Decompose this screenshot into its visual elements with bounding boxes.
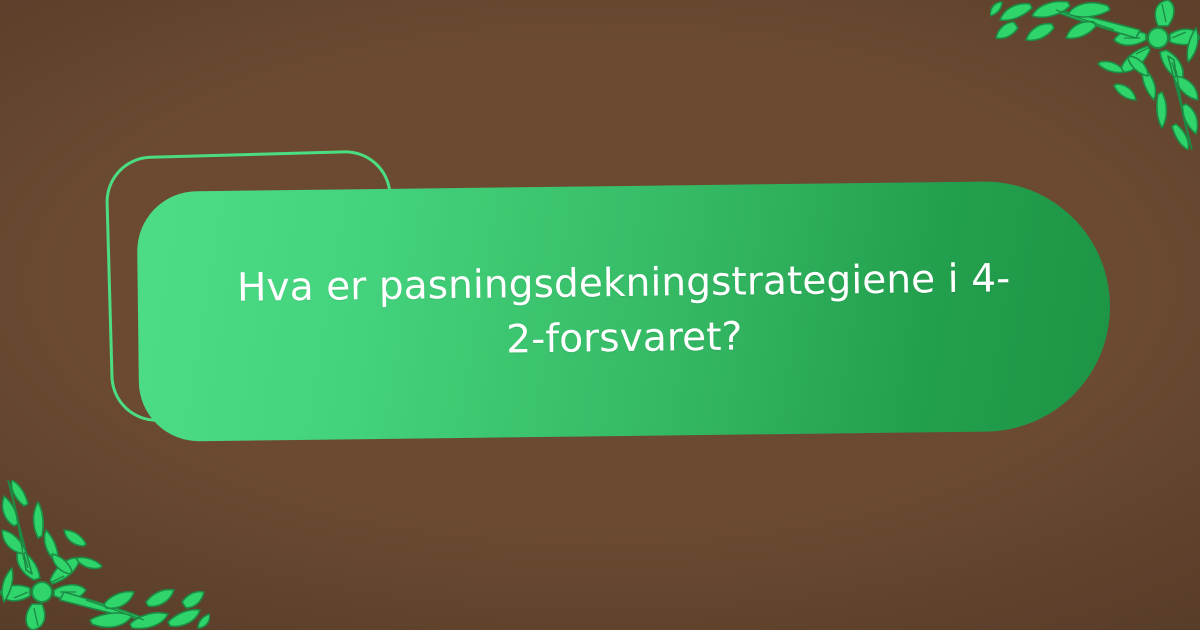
question-card-content: Hva er pasningsdekningstrategiene i 4-2-… <box>137 250 1110 373</box>
question-card: Hva er pasningsdekningstrategiene i 4-2-… <box>137 180 1112 442</box>
share-card-canvas: Hva er pasningsdekningstrategiene i 4-2-… <box>0 0 1200 630</box>
question-title: Hva er pasningsdekningstrategiene i 4-2-… <box>229 251 1018 371</box>
